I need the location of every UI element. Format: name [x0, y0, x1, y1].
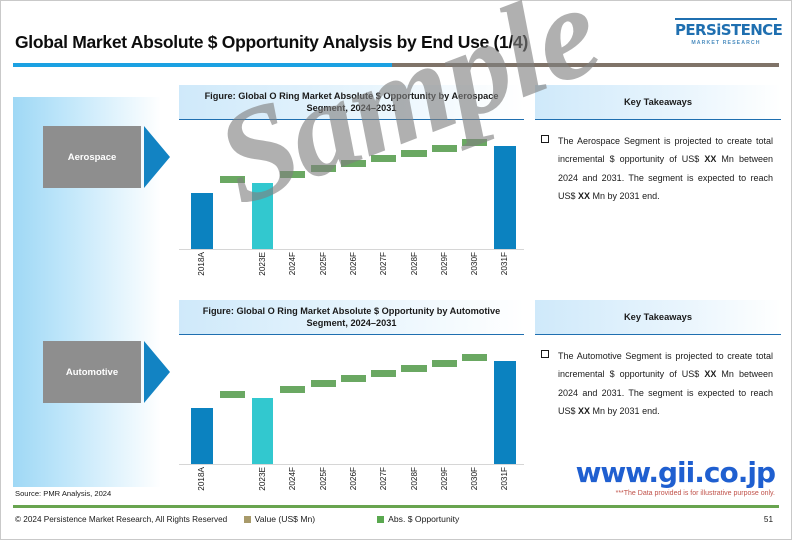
checkbox-bullet-icon [541, 350, 549, 358]
illustrative-disclaimer: ***The Data provided is for illustrative… [616, 490, 775, 497]
x-axis-labels: 2018A2023E2024F2025F2026F2027F2028F2029F… [179, 252, 524, 298]
arrow-icon-aerospace [144, 126, 170, 188]
key-takeaways-banner: Key Takeaways [535, 85, 781, 120]
x-axis-tick-label: 2029F [429, 252, 459, 298]
bar-value-actual [494, 361, 516, 466]
persistence-logo: PERSiSTENCE MARKET RESEARCH [675, 18, 777, 46]
x-axis-tick-label: 2024F [278, 252, 308, 298]
x-axis-tick-label: 2018A [187, 252, 217, 298]
key-takeaways-heading: Key Takeaways [624, 97, 692, 107]
key-takeaways-aerospace: Key Takeaways The Aerospace Segment is p… [535, 85, 781, 285]
bar-abs-opportunity [311, 380, 336, 387]
x-axis-tick-label: 2027F [369, 252, 399, 298]
bar-abs-opportunity [401, 365, 426, 372]
chart-column [369, 347, 399, 465]
chart-column [399, 347, 429, 465]
key-takeaways-heading: Key Takeaways [624, 312, 692, 322]
legend-swatch-icon [244, 516, 251, 523]
chart-column-gap [217, 132, 247, 250]
bar-abs-opportunity [462, 354, 487, 361]
chart-column [460, 132, 490, 250]
page-number: 51 [764, 515, 773, 524]
chart-column [187, 132, 217, 250]
page-title: Global Market Absolute $ Opportunity Ana… [15, 32, 528, 53]
bar-abs-opportunity [280, 171, 305, 178]
chart-column [278, 347, 308, 465]
chart-title: Figure: Global O Ring Market Absolute $ … [195, 90, 508, 114]
bar-abs-opportunity [341, 160, 366, 167]
chart-column [429, 132, 459, 250]
bar-abs-opportunity [220, 391, 245, 398]
arrow-icon-automotive [144, 341, 170, 403]
chart-column [338, 132, 368, 250]
bar-abs-opportunity [341, 375, 366, 382]
chart-plot-area [179, 132, 524, 250]
logo-top-rule [675, 18, 777, 20]
chart-column [248, 347, 278, 465]
bar-abs-opportunity [462, 139, 487, 146]
chart-title: Figure: Global O Ring Market Absolute $ … [195, 305, 508, 329]
key-takeaways-body: The Automotive Segment is projected to c… [535, 335, 781, 421]
x-axis-tick-label: 2030F [460, 252, 490, 298]
logo-wordmark: PERSiSTENCE [675, 23, 777, 39]
x-axis-line [179, 249, 524, 250]
bar-abs-opportunity [432, 145, 457, 152]
chart-column [278, 132, 308, 250]
chart-bars [187, 132, 520, 250]
chart-column-gap [217, 347, 247, 465]
bar-value-actual [191, 193, 213, 250]
gii-url-label: www.gii.co.jp [576, 456, 775, 489]
chart-column [429, 347, 459, 465]
chart-legend: Value (US$ Mn) Abs. $ Opportunity [179, 514, 524, 524]
bar-abs-opportunity [311, 165, 336, 172]
chart-title-banner: Figure: Global O Ring Market Absolute $ … [179, 85, 524, 120]
chart-column [187, 347, 217, 465]
segment-label-text: Automotive [66, 367, 118, 378]
bar-abs-opportunity [371, 155, 396, 162]
key-takeaways-body: The Aerospace Segment is projected to cr… [535, 120, 781, 206]
chart-column [369, 132, 399, 250]
legend-label: Abs. $ Opportunity [388, 514, 459, 524]
chart-title-banner: Figure: Global O Ring Market Absolute $ … [179, 300, 524, 335]
segment-label-text: Aerospace [68, 152, 117, 163]
segment-label-aerospace: Aerospace [43, 126, 141, 188]
slide: Global Market Absolute $ Opportunity Ana… [0, 0, 792, 540]
bar-value-actual [191, 408, 213, 465]
x-axis-tick-label: 2025F [308, 252, 338, 298]
chart-column [308, 132, 338, 250]
legend-label: Value (US$ Mn) [255, 514, 316, 524]
chart-panel-aerospace: Figure: Global O Ring Market Absolute $ … [179, 85, 524, 285]
x-axis-tick-label: 2031F [490, 252, 520, 298]
x-axis-tick-label: 2028F [399, 252, 429, 298]
checkbox-bullet-icon [541, 135, 549, 143]
legend-swatch-icon [377, 516, 384, 523]
key-takeaways-text: The Aerospace Segment is projected to cr… [558, 132, 773, 206]
copyright-note: © 2024 Persistence Market Research, All … [15, 515, 227, 524]
bar-abs-opportunity [371, 370, 396, 377]
x-axis-tick-label: 2026F [338, 252, 368, 298]
bar-abs-opportunity [220, 176, 245, 183]
chart-column [490, 132, 520, 250]
bar-value-estimate [252, 398, 274, 465]
x-axis-line [179, 464, 524, 465]
chart-bars [187, 347, 520, 465]
segment-label-automotive: Automotive [43, 341, 141, 403]
x-axis-tick-gap [217, 252, 247, 298]
bar-abs-opportunity [432, 360, 457, 367]
key-takeaways-text: The Automotive Segment is projected to c… [558, 347, 773, 421]
legend-item-value: Value (US$ Mn) [244, 514, 316, 524]
chart-column [460, 347, 490, 465]
x-axis-tick-label: 2023E [248, 252, 278, 298]
legend-item-opportunity: Abs. $ Opportunity [377, 514, 459, 524]
key-takeaways-banner: Key Takeaways [535, 300, 781, 335]
bar-value-estimate [252, 183, 274, 250]
chart-column [338, 347, 368, 465]
title-divider [13, 63, 779, 67]
chart-column [248, 132, 278, 250]
chart-column [490, 347, 520, 465]
chart-panel-automotive: Figure: Global O Ring Market Absolute $ … [179, 300, 524, 500]
source-note: Source: PMR Analysis, 2024 [15, 489, 111, 498]
chart-column [399, 132, 429, 250]
footer-divider [13, 505, 779, 508]
bar-value-actual [494, 146, 516, 251]
bar-abs-opportunity [280, 386, 305, 393]
chart-plot-area [179, 347, 524, 465]
bar-abs-opportunity [401, 150, 426, 157]
chart-column [308, 347, 338, 465]
logo-tagline: MARKET RESEARCH [675, 40, 777, 46]
